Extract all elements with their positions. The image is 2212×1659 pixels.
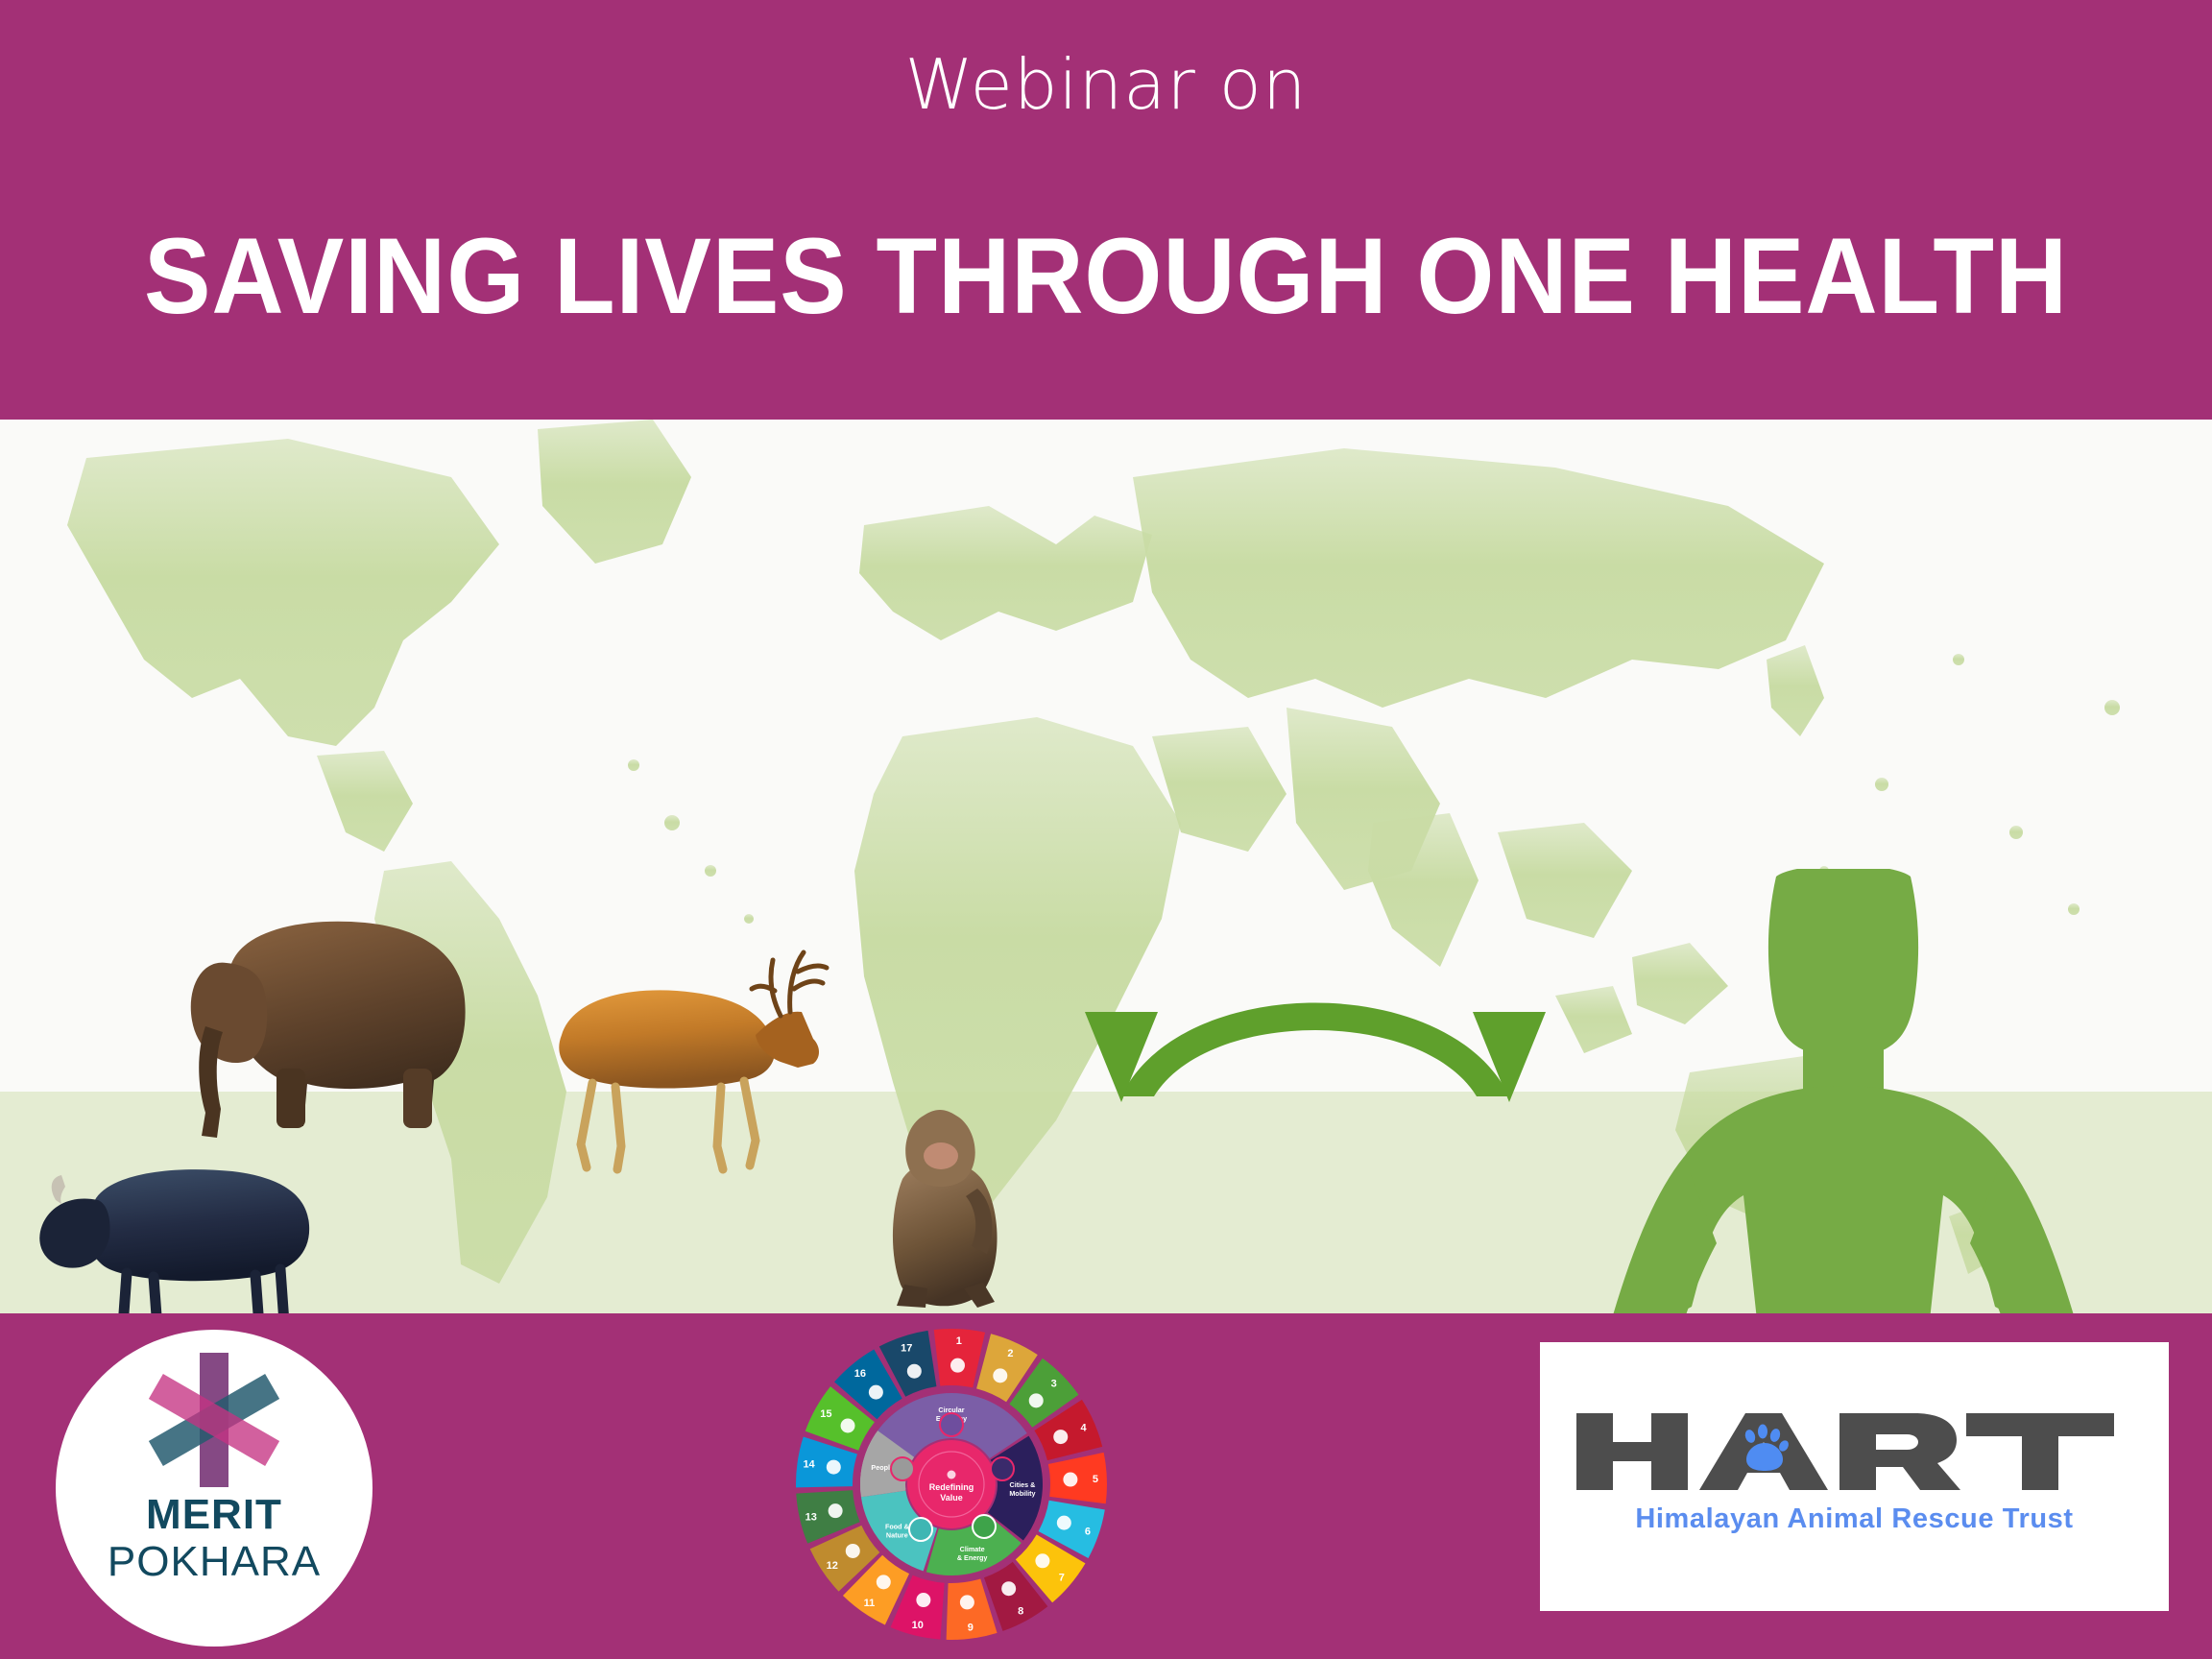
equals-circle-icon xyxy=(916,1593,930,1607)
sdg-wheel[interactable]: 1234567891011121314151617 CircularEconom… xyxy=(793,1319,1110,1650)
svg-text:Value: Value xyxy=(940,1493,963,1503)
svg-text:3: 3 xyxy=(1051,1379,1057,1390)
merit-pokhara-logo[interactable]: MERIT POKHARA xyxy=(56,1330,373,1647)
dove-gavel-icon xyxy=(869,1385,883,1400)
artwork-stage xyxy=(0,420,2212,1313)
sdg-wheel-graphic: 1234567891011121314151617 CircularEconom… xyxy=(793,1319,1110,1650)
merit-logo-text: MERIT POKHARA xyxy=(56,1491,373,1586)
svg-text:4: 4 xyxy=(1081,1422,1088,1433)
book-icon xyxy=(1053,1430,1068,1444)
hart-wordmark xyxy=(1576,1413,2133,1490)
fish-icon xyxy=(827,1460,841,1475)
hart-tagline: Himalayan Animal Rescue Trust xyxy=(1540,1503,2169,1535)
tree-bird-icon xyxy=(841,1418,855,1432)
human-silhouette xyxy=(1479,869,2208,1313)
header-band: Webinar on SAVING LIVES THROUGH ONE HEAL… xyxy=(0,0,2212,420)
svg-text:11: 11 xyxy=(864,1598,876,1609)
city-buildings-icon xyxy=(877,1575,891,1589)
growth-chart-icon xyxy=(1001,1581,1016,1596)
infinity-icon xyxy=(846,1544,860,1558)
svg-text:Nature: Nature xyxy=(886,1531,908,1540)
svg-text:7: 7 xyxy=(1059,1573,1065,1584)
bowl-icon xyxy=(993,1368,1007,1382)
svg-text:6: 6 xyxy=(1085,1527,1091,1538)
partnership-rings-icon xyxy=(907,1364,922,1379)
svg-text:15: 15 xyxy=(820,1408,831,1420)
svg-text:Mobility: Mobility xyxy=(1009,1489,1035,1498)
svg-text:14: 14 xyxy=(803,1458,815,1470)
svg-text:9: 9 xyxy=(968,1623,974,1634)
eye-globe-icon xyxy=(829,1503,843,1518)
svg-text:1: 1 xyxy=(956,1335,962,1347)
svg-text:& Energy: & Energy xyxy=(957,1553,988,1562)
svg-text:12: 12 xyxy=(827,1560,838,1572)
animal-monkey xyxy=(864,1096,1027,1313)
sun-icon xyxy=(1035,1553,1049,1568)
animal-elephant xyxy=(173,900,490,1154)
svg-text:Cities &: Cities & xyxy=(1010,1480,1036,1489)
svg-text:2: 2 xyxy=(1007,1348,1013,1359)
eyebrow-text: Webinar on xyxy=(0,50,2212,119)
svg-text:13: 13 xyxy=(805,1511,817,1523)
hart-logo[interactable]: Himalayan Animal Rescue Trust xyxy=(1540,1342,2169,1611)
animal-cow xyxy=(29,1144,326,1313)
heartbeat-icon xyxy=(1029,1393,1044,1407)
gender-equality-icon xyxy=(1063,1473,1077,1487)
svg-text:17: 17 xyxy=(901,1342,912,1354)
page-title: SAVING LIVES THROUGH ONE HEALTH xyxy=(78,223,2135,330)
svg-text:10: 10 xyxy=(912,1620,924,1631)
hart-logo-inner: Himalayan Animal Rescue Trust xyxy=(1540,1342,2169,1611)
cubes-icon xyxy=(960,1595,974,1609)
star-of-life-asterisk-icon xyxy=(142,1353,286,1487)
merit-logo-line1: MERIT xyxy=(56,1491,373,1538)
svg-text:16: 16 xyxy=(854,1368,866,1380)
svg-text:8: 8 xyxy=(1018,1605,1023,1617)
people-icon xyxy=(950,1358,965,1373)
animal-deer xyxy=(533,943,840,1178)
svg-text:Food &: Food & xyxy=(885,1523,909,1531)
svg-text:Redefining: Redefining xyxy=(929,1482,974,1492)
svg-text:Climate: Climate xyxy=(960,1545,985,1553)
merit-logo-line2: POKHARA xyxy=(56,1538,373,1585)
svg-text:5: 5 xyxy=(1093,1474,1098,1485)
webinar-poster: Webinar on SAVING LIVES THROUGH ONE HEAL… xyxy=(0,0,2212,1659)
water-drop-icon xyxy=(1057,1516,1071,1530)
